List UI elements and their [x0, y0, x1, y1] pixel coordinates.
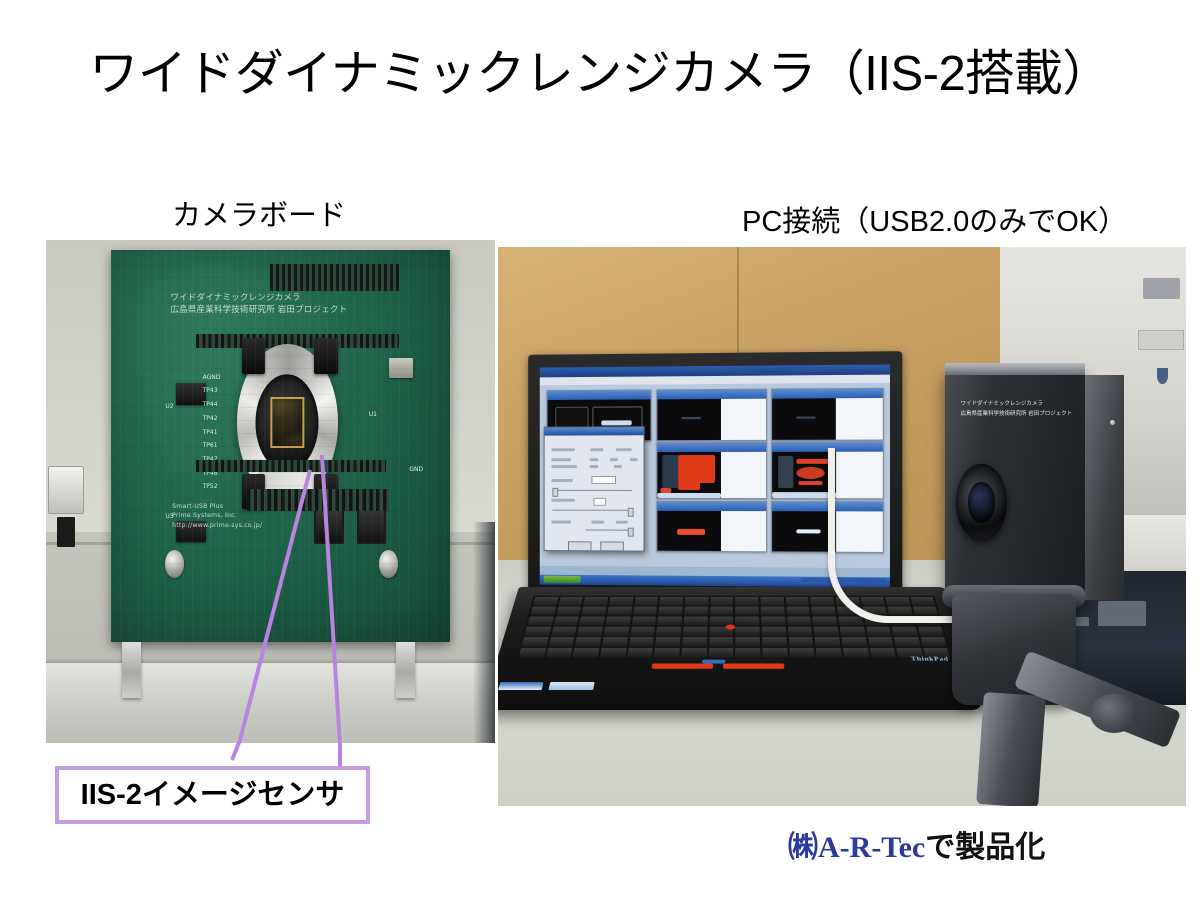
image-window-4[interactable] [657, 442, 768, 499]
image-window-6[interactable] [657, 501, 768, 553]
board-photo-desk-slab [46, 663, 495, 743]
callout-iis2-sensor: IIS-2イメージセンサ [55, 766, 370, 824]
sensor-clamp-1 [242, 338, 266, 373]
trackpoint-scroll-button[interactable] [701, 660, 725, 664]
pcb-silk-line-1: ワイドダイナミックレンジカメラ [170, 293, 347, 304]
footer-brand-name: ㈱A-R-Tec [788, 831, 925, 864]
trackpoint-right-button[interactable] [722, 663, 784, 668]
pcb-vendor-line-1: Smart-USB Plus [172, 502, 262, 511]
thinkpad-logo: ThinkPad [910, 656, 949, 662]
sensor-aperture [256, 374, 319, 471]
camera-body: ワイドダイナミックレンジカメラ 広島県産業科学技術研究所 岩田プロジェクト [945, 370, 1085, 605]
pcb-label-u2: U2 [165, 403, 173, 410]
page-title: ワイドダイナミックレンジカメラ（IIS-2搭載） [0, 46, 1200, 102]
iis2-image-sensor-die [270, 397, 304, 448]
intel-sticker [498, 682, 543, 690]
dialog-value-field[interactable] [592, 477, 616, 485]
board-photo-shadow-right [473, 522, 495, 743]
callout-label: IIS-2イメージセンサ [81, 781, 345, 810]
camera-label-line-2: 広島県産業科学技術研究所 岩田プロジェクト [961, 410, 1073, 420]
equipment-slot [1143, 278, 1180, 299]
dialog-slider-1[interactable] [552, 488, 558, 497]
pcb-label-tp61: TP61 [203, 442, 218, 449]
board-stand-bracket-left [122, 642, 141, 697]
pcb-vendor-line-2: Prime Systems, Inc. [172, 511, 262, 520]
pcb-label-tp52: TP52 [203, 483, 218, 490]
pcb-label-agnd: AGND [203, 374, 221, 381]
start-button[interactable] [543, 576, 581, 584]
window-title-bar [658, 443, 767, 452]
pcb-switch-fl1 [314, 505, 343, 544]
footer-suffix: で製品化 [925, 831, 1045, 864]
footer-manufacturer: ㈱A-R-Tecで製品化 [788, 822, 1045, 866]
pcb-vendor-line-3: http://www.prime-sys.co.jp/ [172, 521, 262, 530]
pcb-silkscreen-vendor: Smart-USB Plus Prime Systems, Inc. http:… [172, 502, 262, 530]
pcb-header-top [270, 264, 399, 291]
pcb-chip-u2 [176, 383, 207, 405]
board-edge-connector [48, 466, 84, 513]
photo-camera-board: ワイドダイナミックレンジカメラ 広島県産業科学技術研究所 岩田プロジェクト AG… [46, 240, 495, 743]
tripod-column [976, 692, 1046, 806]
pcb-header-row-3 [196, 460, 386, 473]
tripod-lock-knob [1090, 694, 1138, 733]
window-image-area [658, 511, 767, 552]
dialog-title-bar [544, 427, 644, 435]
pcb-silk-line-2: 広島県産業科学技術研究所 岩田プロジェクト [170, 305, 347, 316]
trackpoint-nub[interactable] [725, 624, 735, 629]
pcb-mount-screw-right [379, 550, 398, 577]
caption-pc-connection: PC接続（USB2.0のみでOK） [742, 198, 1127, 240]
window-image-area [772, 398, 883, 439]
pcb-silkscreen-title: ワイドダイナミックレンジカメラ 広島県産業科学技術研究所 岩田プロジェクト [170, 293, 347, 316]
pcb-label-gnd: GND [409, 466, 423, 473]
pcb-label-u1: U1 [369, 411, 377, 418]
trackpoint-left-button[interactable] [651, 663, 713, 668]
pcb-label-tp42: TP42 [203, 415, 218, 422]
image-window-2[interactable] [657, 389, 768, 441]
image-window-3[interactable] [771, 388, 884, 440]
window-image-area [658, 452, 767, 498]
pcb-connector-right [389, 358, 413, 378]
pcb-label-tp41: TP41 [203, 429, 218, 436]
dialog-ok-button[interactable] [568, 542, 592, 552]
wdr-camera-unit: ワイドダイナミックレンジカメラ 広島県産業科学技術研究所 岩田プロジェクト [945, 370, 1124, 605]
caption-camera-board: カメラボード [172, 192, 346, 234]
pcb-mount-screw-left [165, 550, 184, 577]
camera-lens [956, 464, 1006, 541]
equipment-tray [1138, 330, 1185, 349]
pcb-header-grid [247, 489, 389, 511]
dialog-slider-3[interactable] [628, 527, 634, 536]
pcb-label-tp43: TP43 [203, 387, 218, 394]
camera-panel-screw [1110, 420, 1115, 425]
pcb-label-tp44: TP44 [203, 401, 218, 408]
camera-label: ワイドダイナミックレンジカメラ 広島県産業科学技術研究所 岩田プロジェクト [961, 400, 1073, 420]
camera-label-line-1: ワイドダイナミックレンジカメラ [961, 400, 1073, 410]
equipment-blue-handle [1157, 368, 1168, 384]
window-image-area [658, 399, 767, 440]
board-stand-bracket-right [396, 642, 415, 697]
pcb-board: ワイドダイナミックレンジカメラ 広島県産業科学技術研究所 岩田プロジェクト AG… [111, 250, 450, 642]
camera-control-dialog[interactable] [543, 426, 645, 552]
pcb-switch-fl2 [357, 505, 386, 544]
camera-top-panel [945, 363, 1085, 375]
windows-sticker [548, 682, 593, 690]
dialog-checkbox[interactable] [594, 498, 606, 506]
sensor-clamp-2 [314, 338, 338, 373]
slide-canvas: ワイドダイナミックレンジカメラ（IIS-2搭載） カメラボード PC接続（USB… [0, 0, 1200, 920]
photo-pc-setup: ThinkPad ワイドダイナミックレンジカメラ 広島県産業科学技術研究所 岩田… [498, 247, 1186, 806]
board-side-component [57, 517, 75, 547]
camera-side-panel [1085, 375, 1124, 600]
dialog-cancel-button[interactable] [600, 542, 624, 552]
dialog-slider-2[interactable] [628, 508, 634, 517]
